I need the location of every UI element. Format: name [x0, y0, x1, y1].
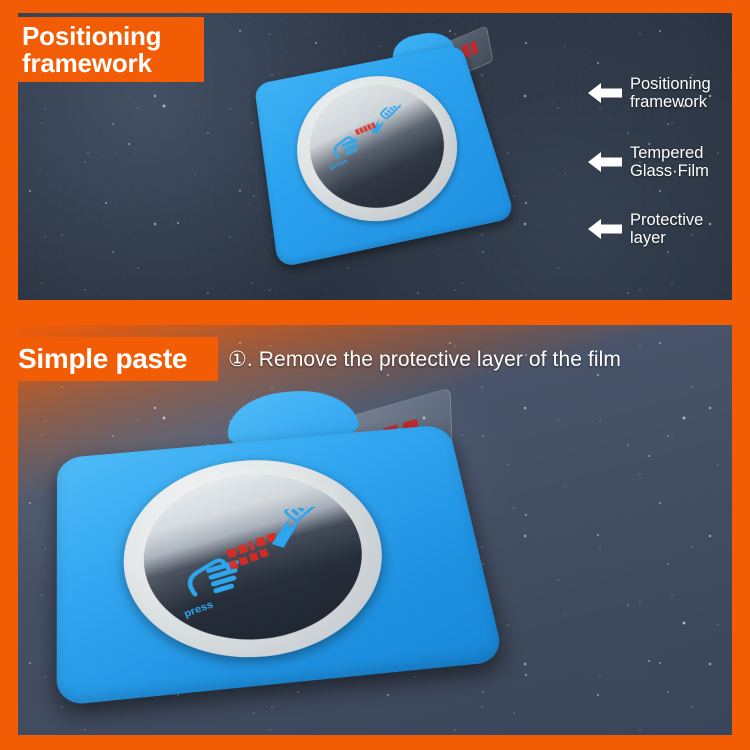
border-band-right — [732, 0, 750, 750]
heading-line-2: framework — [22, 50, 152, 77]
film-artwork-bottom: press — [157, 504, 369, 626]
left-arrow-icon — [588, 151, 622, 173]
callout-text-block: Protective layer — [630, 211, 703, 248]
svg-text:press: press — [328, 158, 349, 172]
callout-line-2: framework — [630, 93, 711, 111]
border-band-top — [0, 0, 750, 13]
callout-line-1: Protective — [630, 211, 703, 229]
poster-root: ▮▮▮▮▮ press Positioning framework Temper… — [0, 0, 750, 750]
red-instruction-text — [223, 533, 283, 570]
callout-text-block: Tempered Glass·Film — [630, 144, 709, 181]
left-arrow-icon — [588, 218, 622, 240]
heading-simple-paste: Simple paste — [0, 337, 218, 381]
product-image-paste-step: press — [52, 382, 502, 712]
border-band-middle — [0, 300, 750, 325]
heading-positioning-framework: Positioning framework — [0, 17, 204, 82]
heading-line-1: Positioning — [22, 23, 161, 50]
svg-text:▮▮▮▮▮: ▮▮▮▮▮ — [353, 120, 377, 136]
callout-line-2: layer — [630, 229, 703, 247]
callout-line-2: Glass·Film — [630, 162, 709, 180]
product-image-positioning-frame: ▮▮▮▮▮ press — [241, 24, 518, 271]
callout-line-1: Positioning — [630, 75, 711, 93]
callout-protective-layer: Protective layer — [588, 211, 703, 248]
step-instruction-text: ①. Remove the protective layer of the fi… — [228, 339, 621, 380]
callout-positioning-framework: Positioning framework — [588, 75, 711, 112]
up-right-arrow-icon — [264, 515, 308, 550]
callout-line-1: Tempered — [630, 144, 709, 162]
callout-tempered-glass-film: Tempered Glass·Film — [588, 144, 709, 181]
left-arrow-icon — [588, 82, 622, 104]
press-label: press — [182, 599, 215, 620]
border-band-bottom — [0, 735, 750, 750]
film-artwork-svg-bottom: press — [157, 504, 369, 626]
callout-text-block: Positioning framework — [630, 75, 711, 112]
hand-press-icon — [185, 555, 247, 600]
